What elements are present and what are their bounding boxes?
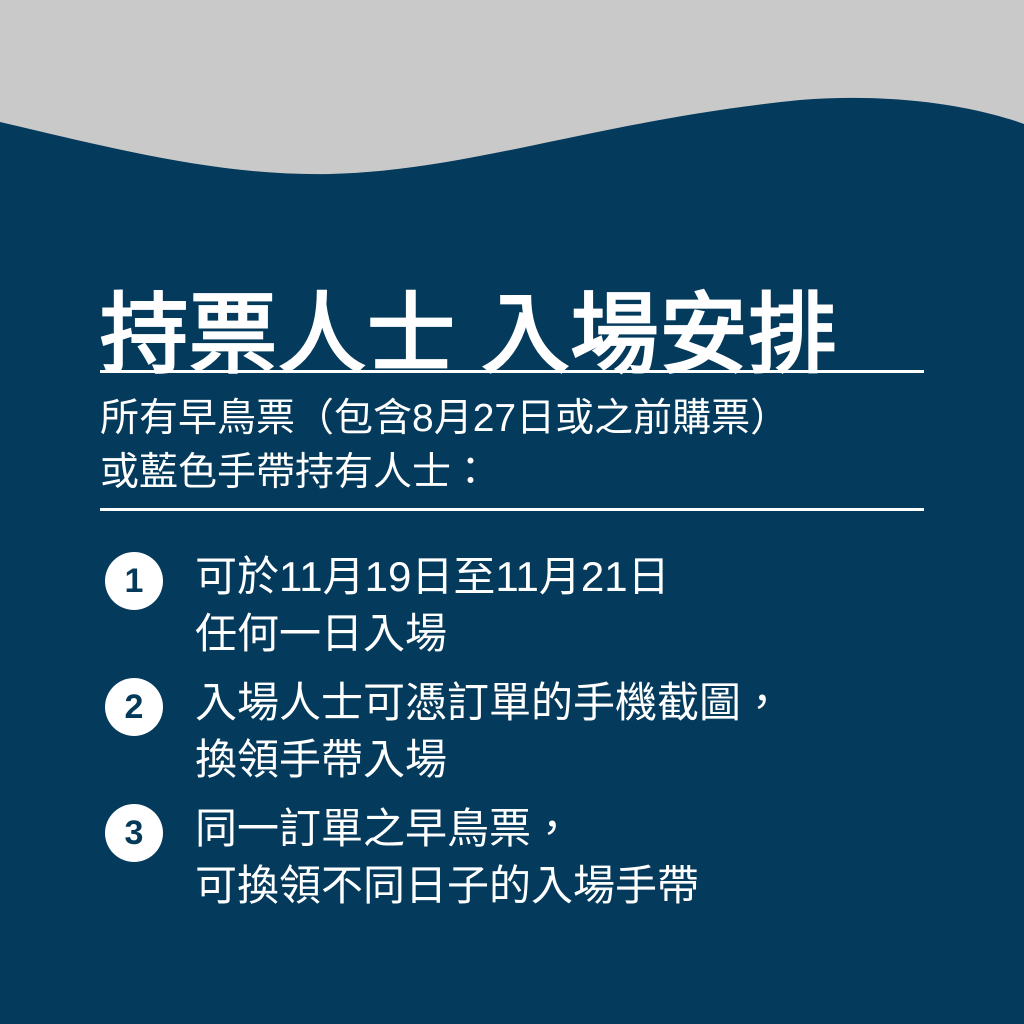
list-item-text: 入場人士可憑訂單的手機截圖， 換領手帶入場 bbox=[195, 674, 980, 788]
list-number-badge: 1 bbox=[105, 552, 163, 610]
list-number-badge: 3 bbox=[105, 804, 163, 862]
subtitle-block: 所有早鳥票（包含8月27日或之前購票） 或藍色手帶持有人士： bbox=[100, 392, 980, 500]
page-title: 持票人士 入場安排 bbox=[100, 291, 837, 379]
divider-bottom bbox=[100, 508, 924, 511]
list-item-line-2: 換領手帶入場 bbox=[195, 731, 980, 788]
list-item-line-1: 同一訂單之早鳥票， bbox=[195, 800, 980, 857]
list-item: 3 同一訂單之早鳥票， 可換領不同日子的入場手帶 bbox=[100, 800, 980, 926]
poster-canvas: 持票人士 入場安排 所有早鳥票（包含8月27日或之前購票） 或藍色手帶持有人士：… bbox=[0, 0, 1024, 1024]
subtitle-line-2: 或藍色手帶持有人士： bbox=[100, 446, 980, 500]
list-item-line-1: 可於11月19日至11月21日 bbox=[195, 548, 980, 605]
list-item-text: 同一訂單之早鳥票， 可換領不同日子的入場手帶 bbox=[195, 800, 980, 914]
instruction-list: 1 可於11月19日至11月21日 任何一日入場 2 入場人士可憑訂單的手機截圖… bbox=[100, 548, 980, 926]
list-item-line-2: 可換領不同日子的入場手帶 bbox=[195, 857, 980, 914]
subtitle-line-1: 所有早鳥票（包含8月27日或之前購票） bbox=[100, 392, 980, 446]
divider-top bbox=[100, 370, 924, 373]
poster-content: 持票人士 入場安排 所有早鳥票（包含8月27日或之前購票） 或藍色手帶持有人士：… bbox=[0, 0, 1024, 1024]
list-item: 2 入場人士可憑訂單的手機截圖， 換領手帶入場 bbox=[100, 674, 980, 800]
list-item-line-2: 任何一日入場 bbox=[195, 605, 980, 662]
list-item-line-1: 入場人士可憑訂單的手機截圖， bbox=[195, 674, 980, 731]
list-item-text: 可於11月19日至11月21日 任何一日入場 bbox=[195, 548, 980, 662]
list-number-badge: 2 bbox=[105, 678, 163, 736]
list-item: 1 可於11月19日至11月21日 任何一日入場 bbox=[100, 548, 980, 674]
